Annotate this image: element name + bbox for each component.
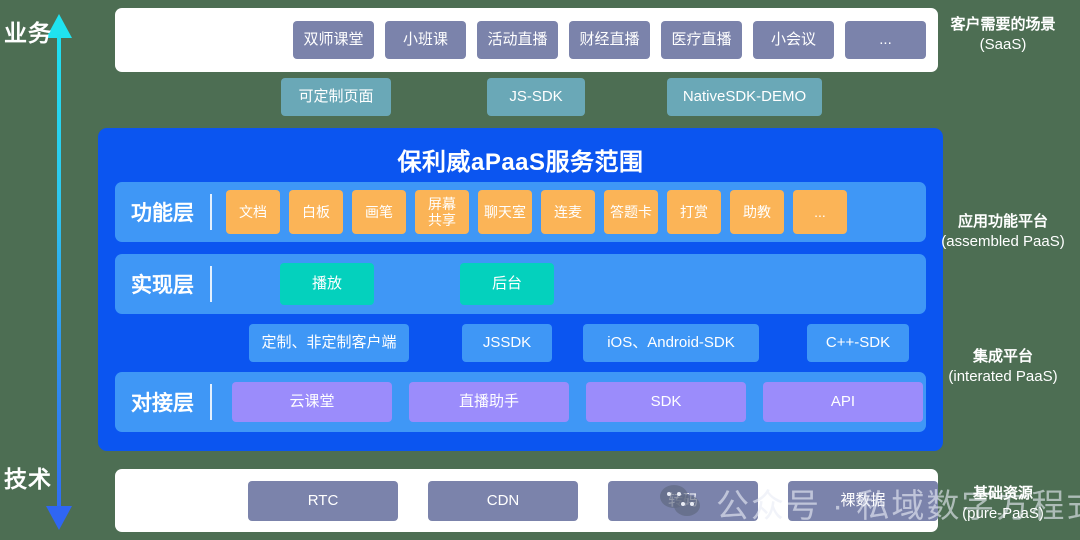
side-label-pure-title: 基础资源 xyxy=(930,484,1076,504)
apaas-scope-panel: 保利威aPaaS服务范围 功能层 文档 白板 画笔 屏幕 共享 聊天室 连麦 答… xyxy=(98,128,943,451)
function-chip-list: 文档 白板 画笔 屏幕 共享 聊天室 连麦 答题卡 打赏 助教 ... xyxy=(226,190,926,234)
side-label-saas-title: 客户需要的场景 xyxy=(930,15,1076,35)
connector-chip-nativesdk-demo[interactable]: NativeSDK-DEMO xyxy=(667,78,822,116)
docking-chip-api[interactable]: API xyxy=(763,382,923,422)
scenario-chip-more[interactable]: ... xyxy=(845,21,926,59)
scenario-chip[interactable]: 医疗直播 xyxy=(661,21,742,59)
integration-chip-custom-client[interactable]: 定制、非定制客户端 xyxy=(249,324,409,362)
function-layer-band: 功能层 文档 白板 画笔 屏幕 共享 聊天室 连麦 答题卡 打赏 助教 ... xyxy=(115,182,926,242)
function-chip-brush[interactable]: 画笔 xyxy=(352,190,406,234)
docking-layer-label: 对接层 xyxy=(131,387,194,417)
layer-divider xyxy=(210,266,212,302)
function-chip-reward[interactable]: 打赏 xyxy=(667,190,721,234)
resource-chip-transcode[interactable]: 转码 xyxy=(608,481,758,521)
function-chip-whiteboard[interactable]: 白板 xyxy=(289,190,343,234)
connector-chip-list: 可定制页面 JS-SDK NativeSDK-DEMO xyxy=(115,78,938,118)
implementation-layer-band: 实现层 播放 后台 xyxy=(115,254,926,314)
resource-chip-raw-data[interactable]: 裸数据 xyxy=(788,481,938,521)
side-label-integrated-subtitle: (interated PaaS) xyxy=(930,367,1076,387)
base-resource-card: RTC CDN 转码 裸数据 xyxy=(115,469,938,532)
side-label-saas-subtitle: (SaaS) xyxy=(930,35,1076,55)
side-label-assembled-title: 应用功能平台 xyxy=(930,212,1076,232)
docking-chip-cloud-classroom[interactable]: 云课堂 xyxy=(232,382,392,422)
resource-chip-cdn[interactable]: CDN xyxy=(428,481,578,521)
docking-chip-sdk[interactable]: SDK xyxy=(586,382,746,422)
apaas-panel-title: 保利威aPaaS服务范围 xyxy=(98,142,943,177)
function-chip-mic-link[interactable]: 连麦 xyxy=(541,190,595,234)
integration-chip-cpp-sdk[interactable]: C++-SDK xyxy=(807,324,909,362)
scenario-card: 双师课堂 小班课 活动直播 财经直播 医疗直播 小会议 ... xyxy=(115,8,938,72)
scenario-chip[interactable]: 财经直播 xyxy=(569,21,650,59)
axis-arrow-down-icon xyxy=(46,506,72,530)
function-chip-assistant[interactable]: 助教 xyxy=(730,190,784,234)
integration-chip-ios-android-sdk[interactable]: iOS、Android-SDK xyxy=(583,324,759,362)
side-label-assembled-subtitle: (assembled PaaS) xyxy=(930,232,1076,252)
function-chip-screen-share[interactable]: 屏幕 共享 xyxy=(415,190,469,234)
implementation-chip-backend[interactable]: 后台 xyxy=(460,263,554,305)
side-label-pure-paas: 基础资源 (pure-PaaS) xyxy=(930,484,1076,525)
function-chip-quiz-card[interactable]: 答题卡 xyxy=(604,190,658,234)
scenario-chip[interactable]: 双师课堂 xyxy=(293,21,374,59)
docking-chip-list: 云课堂 直播助手 SDK API xyxy=(226,382,926,422)
integration-sdk-chip-list: 定制、非定制客户端 JSSDK iOS、Android-SDK C++-SDK xyxy=(115,324,926,364)
docking-layer-band: 对接层 云课堂 直播助手 SDK API xyxy=(115,372,926,432)
function-chip-document[interactable]: 文档 xyxy=(226,190,280,234)
function-chip-more[interactable]: ... xyxy=(793,190,847,234)
side-label-integrated-title: 集成平台 xyxy=(930,347,1076,367)
side-label-assembled-paas: 应用功能平台 (assembled PaaS) xyxy=(930,212,1076,253)
scenario-chip[interactable]: 活动直播 xyxy=(477,21,558,59)
business-tech-axis xyxy=(46,8,72,532)
implementation-chip-playback[interactable]: 播放 xyxy=(280,263,374,305)
connector-chip-js-sdk[interactable]: JS-SDK xyxy=(487,78,585,116)
implementation-chip-list: 播放 后台 xyxy=(226,263,926,305)
function-chip-chatroom[interactable]: 聊天室 xyxy=(478,190,532,234)
scenario-chip-list: 双师课堂 小班课 活动直播 财经直播 医疗直播 小会议 ... xyxy=(115,8,938,72)
scenario-chip[interactable]: 小会议 xyxy=(753,21,834,59)
side-label-saas: 客户需要的场景 (SaaS) xyxy=(930,15,1076,56)
scenario-chip[interactable]: 小班课 xyxy=(385,21,466,59)
axis-line xyxy=(57,34,61,506)
resource-chip-rtc[interactable]: RTC xyxy=(248,481,398,521)
docking-chip-live-assistant[interactable]: 直播助手 xyxy=(409,382,569,422)
implementation-layer-label: 实现层 xyxy=(131,269,194,299)
axis-label-business: 业务 xyxy=(4,14,52,48)
axis-label-technology: 技术 xyxy=(4,460,52,494)
function-layer-label: 功能层 xyxy=(131,197,194,227)
integration-chip-jssdk[interactable]: JSSDK xyxy=(462,324,552,362)
resource-chip-list: RTC CDN 转码 裸数据 xyxy=(115,469,938,532)
side-label-integrated-paas: 集成平台 (interated PaaS) xyxy=(930,347,1076,388)
side-label-pure-subtitle: (pure-PaaS) xyxy=(930,504,1076,524)
connector-chip-customizable-page[interactable]: 可定制页面 xyxy=(281,78,391,116)
layer-divider xyxy=(210,384,212,420)
layer-divider xyxy=(210,194,212,230)
architecture-diagram: 业务 技术 双师课堂 小班课 活动直播 财经直播 医疗直播 小会议 ... 可定… xyxy=(0,0,1080,540)
